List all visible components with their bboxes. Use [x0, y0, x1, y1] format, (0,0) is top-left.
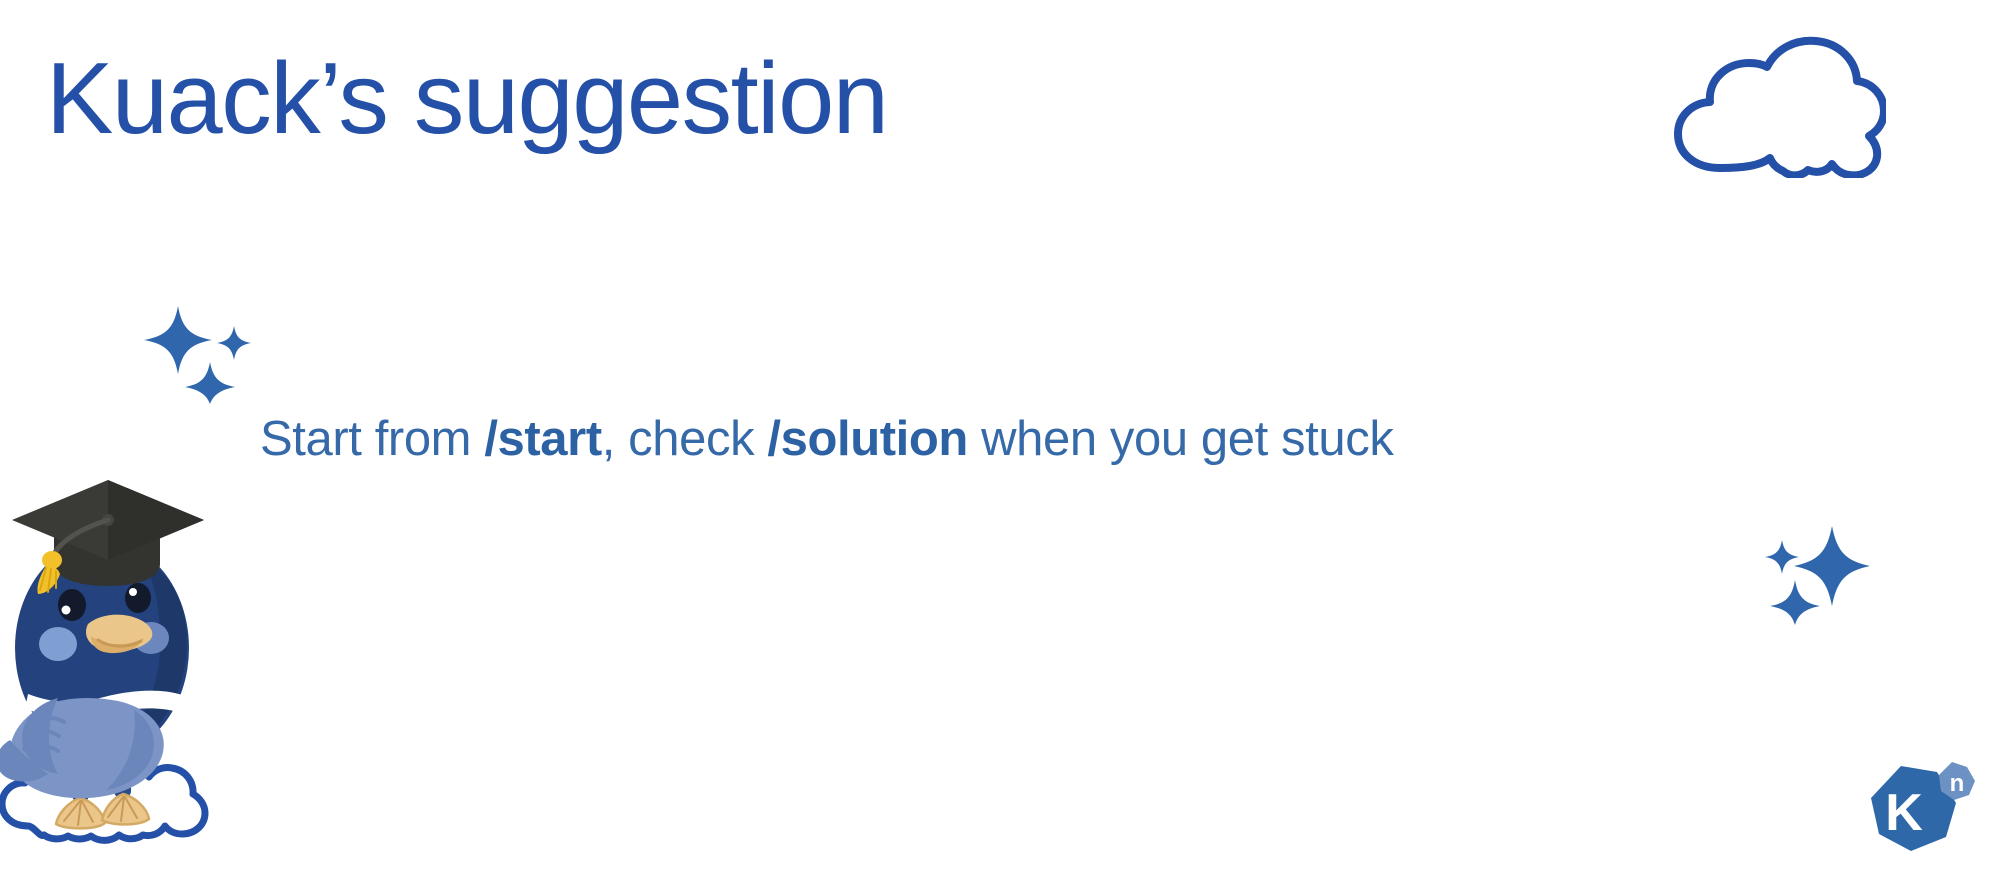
cloud-outline-icon: [1666, 36, 1886, 178]
kuack-duck-mascot: [0, 468, 222, 870]
slide-canvas: Kuack’s suggestion Start from /start, ch…: [0, 0, 1999, 878]
command-start: /start: [484, 412, 601, 466]
sparkles-icon: [142, 300, 262, 408]
sparkles-icon: [1752, 522, 1872, 630]
graduation-cap-icon: [12, 480, 204, 594]
page-title: Kuack’s suggestion: [46, 36, 887, 162]
logo-letter-n: n: [1950, 770, 1965, 797]
instruction-part-2: , check: [602, 412, 768, 466]
logo-letter-k: K: [1885, 784, 1923, 842]
kuacknow-logo[interactable]: K n: [1857, 758, 1979, 862]
instruction-part-3: when you get stuck: [968, 412, 1393, 466]
instruction-text: Start from /start, check /solution when …: [260, 409, 1393, 470]
command-solution: /solution: [767, 412, 968, 466]
instruction-part-1: Start from: [260, 412, 484, 466]
